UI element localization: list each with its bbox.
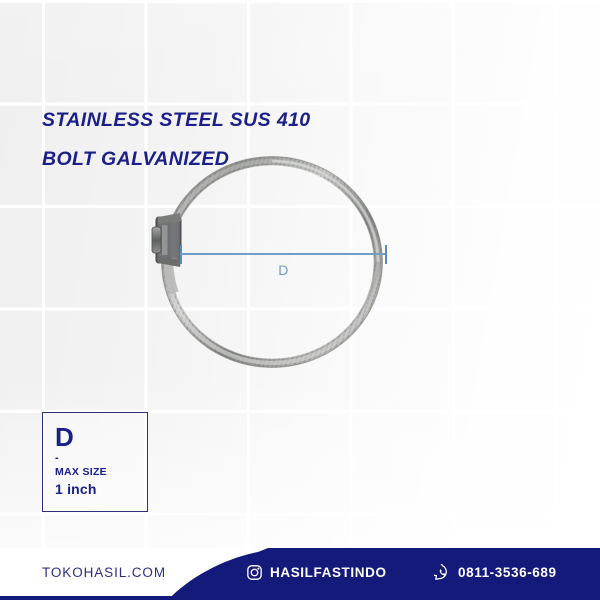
dimension-line [180,253,387,255]
footer-whatsapp-number: 0811-3536-689 [458,565,557,580]
spec-caption: MAX SIZE [55,465,147,480]
footer-bottom-strip [0,596,600,600]
spec-value: 1 inch [55,481,147,498]
footer-instagram-handle: HASILFASTINDO [270,565,387,580]
product-title-line-1: STAINLESS STEEL SUS 410 [42,101,311,140]
whatsapp-icon [434,564,451,581]
clamp-screw-housing [152,213,181,267]
spec-box: D - MAX SIZE 1 inch [42,412,148,512]
footer-instagram[interactable]: HASILFASTINDO [246,564,387,581]
spec-dash: - [55,453,147,464]
spec-symbol: D [55,423,147,451]
footer-website[interactable]: TOKOHASIL.COM [42,565,166,580]
dimension-label: D [178,262,389,278]
footer-whatsapp[interactable]: 0811-3536-689 [434,564,557,581]
product-image-canvas: STAINLESS STEEL SUS 410 BOLT GALVANIZED [0,0,600,600]
instagram-icon [246,564,263,581]
dimension-indicator: D [178,240,389,286]
